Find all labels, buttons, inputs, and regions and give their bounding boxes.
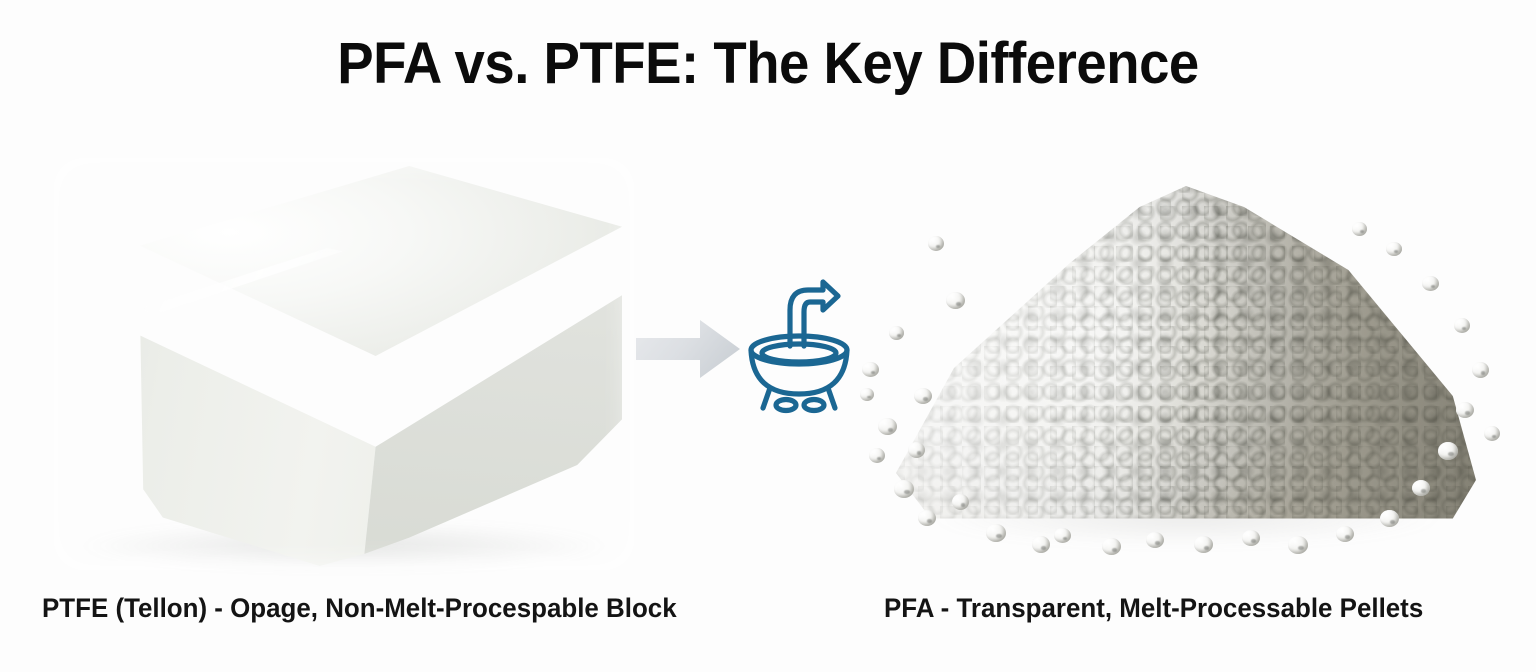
loose-pellet xyxy=(914,388,932,404)
loose-pellet xyxy=(1412,480,1430,496)
loose-pellet xyxy=(1380,510,1399,527)
loose-pellet xyxy=(889,326,904,340)
ptfe-caption: PTFE (Tellon) - Opage, Non-Melt-Procespa… xyxy=(42,593,677,624)
loose-pellet xyxy=(860,388,874,401)
loose-pellet xyxy=(1454,318,1470,333)
loose-pellet xyxy=(1386,242,1402,256)
ptfe-block-photo xyxy=(44,150,654,570)
loose-pellet xyxy=(908,442,925,458)
loose-pellet xyxy=(1484,426,1500,441)
loose-pellet xyxy=(1194,536,1213,553)
loose-pellet xyxy=(928,236,944,251)
loose-pellet xyxy=(1352,222,1367,236)
page-title: PFA vs. PTFE: The Key Difference xyxy=(46,30,1490,97)
loose-pellet xyxy=(1288,536,1308,554)
pfa-pile-shading xyxy=(896,186,1476,536)
loose-pellet xyxy=(862,362,879,377)
melting-pot-icon xyxy=(744,272,854,414)
loose-pellet xyxy=(918,510,936,526)
pfa-pellet-pile xyxy=(896,186,1476,536)
loose-pellet xyxy=(894,480,914,498)
loose-pellet xyxy=(1438,442,1458,460)
ptfe-block-top-face xyxy=(62,166,622,356)
ptfe-block-illustration xyxy=(44,150,654,570)
loose-pellet xyxy=(1054,528,1071,543)
loose-pellet xyxy=(946,292,965,309)
loose-pellet xyxy=(1032,536,1050,553)
loose-pellet xyxy=(986,524,1006,542)
loose-pellet xyxy=(1472,362,1489,378)
loose-pellet xyxy=(1146,532,1164,548)
loose-pellet xyxy=(1242,530,1260,546)
loose-pellet xyxy=(878,418,897,435)
loose-pellet xyxy=(952,494,969,510)
loose-pellet xyxy=(1456,402,1474,418)
loose-pellet xyxy=(869,448,885,463)
infographic-canvas: PFA vs. PTFE: The Key Difference xyxy=(0,0,1536,672)
loose-pellet xyxy=(1102,538,1121,555)
pfa-caption: PFA - Transparent, Melt-Processable Pell… xyxy=(884,593,1423,624)
loose-pellet xyxy=(1422,276,1439,291)
loose-pellet xyxy=(1336,526,1354,542)
pfa-pellets-photo xyxy=(856,180,1516,580)
process-arrow-icon xyxy=(634,318,742,380)
